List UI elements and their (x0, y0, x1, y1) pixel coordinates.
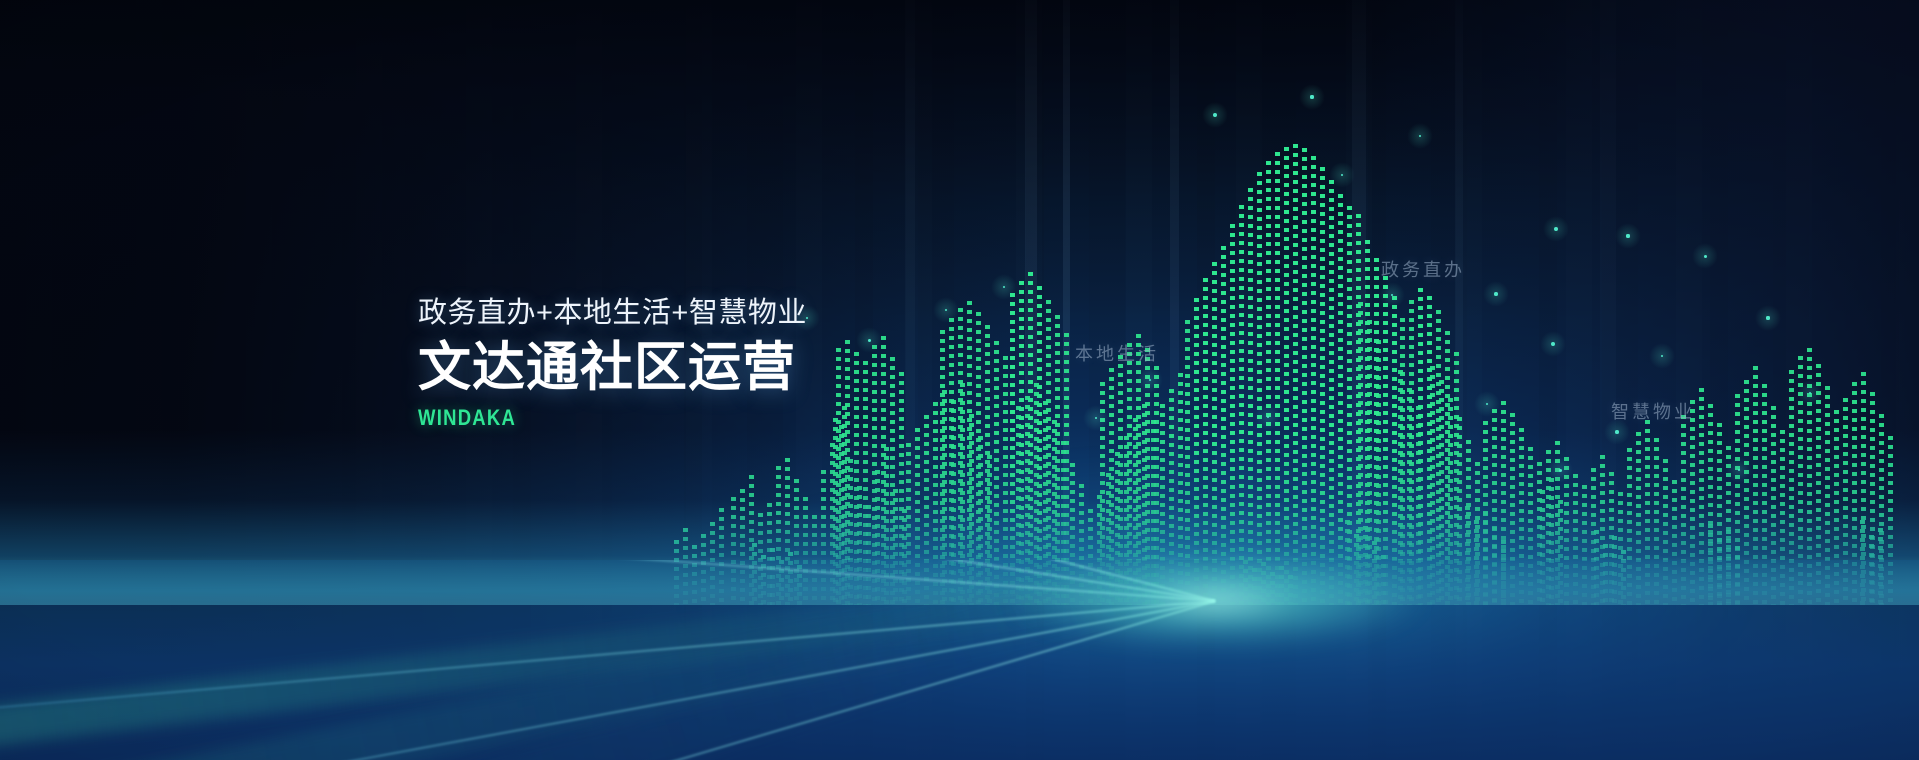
glow-particle (1003, 286, 1006, 289)
glow-particle (1738, 469, 1741, 472)
brand-wordmark: WINDAKA (418, 405, 745, 431)
glow-particle (1341, 174, 1344, 177)
glow-particle (1494, 292, 1498, 296)
glow-particle (1626, 234, 1629, 237)
glow-particle (1809, 392, 1812, 395)
glow-particle (1766, 316, 1769, 319)
banner-subtitle: 政务直办+本地生活+智慧物业 (418, 296, 807, 331)
glow-particle (1149, 379, 1152, 382)
glow-particle (1213, 113, 1217, 117)
skyline-ghost-label: 政务直办 (1381, 256, 1465, 282)
hero-banner: 本地生活政务直办智慧物业 政务直办+本地生活+智慧物业 文达通社区运营 WIND… (0, 0, 1919, 760)
skyline-ghost-label: 本地生活 (1075, 340, 1159, 366)
banner-title: 文达通社区运营 (418, 339, 807, 396)
glow-particle (1486, 403, 1489, 406)
glow-particle (1704, 255, 1707, 258)
glow-particle (1615, 430, 1619, 434)
glow-particle (1419, 135, 1421, 137)
glow-particle (1559, 469, 1562, 472)
glow-particle (1661, 355, 1664, 358)
glow-particle (945, 309, 947, 311)
glow-particle (1391, 294, 1394, 297)
glow-particle (1551, 342, 1555, 346)
glow-particle (868, 339, 871, 342)
glow-particle (1310, 95, 1313, 98)
glow-particle (1095, 417, 1098, 420)
glow-particle (1267, 416, 1269, 418)
particle-field (0, 0, 1919, 760)
glow-particle (1554, 227, 1558, 231)
skyline-ghost-label: 智慧物业 (1611, 398, 1695, 424)
headline-block: 政务直办+本地生活+智慧物业 文达通社区运营 WINDAKA (418, 296, 807, 431)
